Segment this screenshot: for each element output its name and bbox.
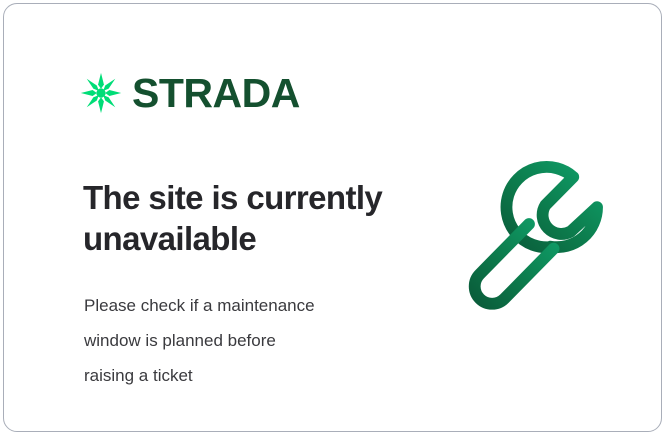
brand-logo: STRADA	[80, 72, 300, 114]
strada-asterisk-icon	[80, 72, 122, 114]
page-title: The site is currently unavailable	[83, 178, 423, 260]
status-card-content: STRADA The site is currently unavailable…	[4, 4, 661, 431]
status-card: STRADA The site is currently unavailable…	[3, 3, 662, 432]
description-line: window is planned before	[84, 324, 404, 359]
wrench-icon	[456, 156, 620, 320]
page-description: Please check if a maintenance window is …	[84, 289, 404, 394]
description-line: raising a ticket	[84, 359, 404, 394]
description-line: Please check if a maintenance	[84, 289, 404, 324]
brand-wordmark: STRADA	[132, 73, 300, 114]
error-page: STRADA The site is currently unavailable…	[0, 0, 666, 436]
